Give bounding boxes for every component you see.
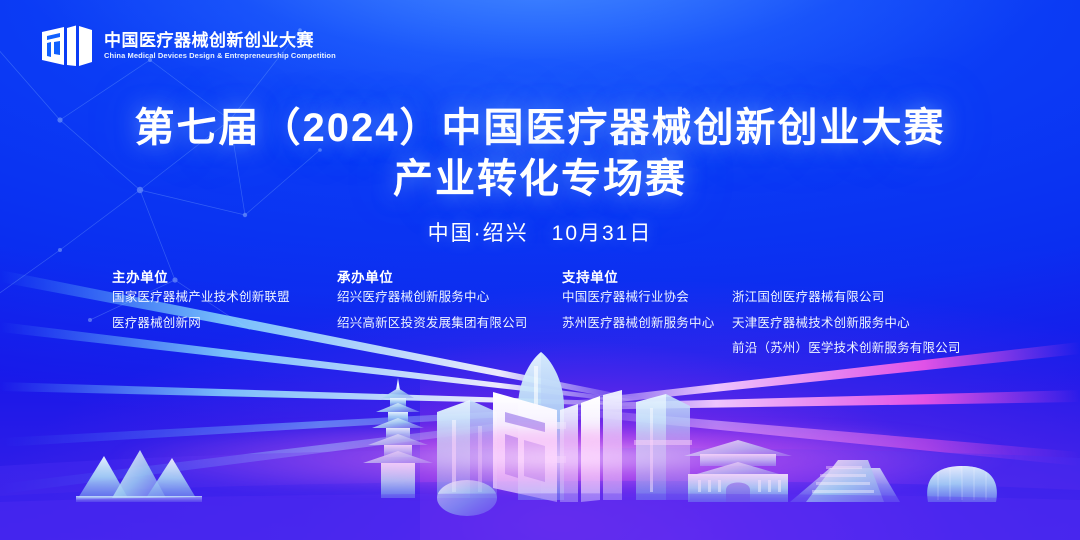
organizer-item: 国家医疗器械产业技术创新联盟 — [112, 291, 337, 304]
stadium-roof-building — [76, 450, 202, 502]
organizer-heading: 承办单位 — [337, 266, 562, 282]
hero-title-line-1: 第七届（2024）中国医疗器械创新创业大赛 — [0, 103, 1080, 154]
organizer-column-support-extra: 浙江国创医疗器械有限公司 天津医疗器械技术创新服务中心 前沿（苏州）医学技术创新… — [732, 266, 992, 368]
hero-title-line-2: 产业转化专场赛 — [0, 154, 1080, 205]
poster-canvas: 中国医疗器械创新创业大赛 China Medical Devices Desig… — [0, 0, 1080, 540]
logo-title-cn: 中国医疗器械创新创业大赛 — [104, 32, 336, 51]
organizers-block: 主办单位 国家医疗器械产业技术创新联盟 医疗器械创新网 承办单位 绍兴医疗器械创… — [112, 266, 992, 368]
logo-title-en: China Medical Devices Design & Entrepren… — [104, 52, 336, 60]
hero-title-block: 第七届（2024）中国医疗器械创新创业大赛 产业转化专场赛 — [0, 103, 1080, 205]
prism-skyscraper — [634, 394, 692, 500]
city-skyline-illustration — [0, 350, 1080, 540]
chinese-gate-tower — [684, 440, 792, 502]
organizer-item: 中国医疗器械行业协会 — [562, 291, 732, 304]
organizer-item: 绍兴医疗器械创新服务中心 — [337, 291, 562, 304]
organizer-item: 医疗器械创新网 — [112, 317, 337, 330]
organizer-heading: 主办单位 — [112, 266, 337, 282]
organizer-heading: 支持单位 — [562, 266, 732, 282]
organizer-item: 绍兴高新区投资发展集团有限公司 — [337, 317, 562, 330]
pagoda-tower — [363, 378, 433, 498]
open-book-logo-mark — [40, 24, 94, 68]
organizer-item: 苏州医疗器械创新服务中心 — [562, 317, 732, 330]
organizer-column-support: 支持单位 中国医疗器械行业协会 苏州医疗器械创新服务中心 — [562, 266, 732, 342]
organizer-item: 前沿（苏州）医学技术创新服务有限公司 — [732, 342, 992, 355]
organizer-item: 天津医疗器械技术创新服务中心 — [732, 317, 992, 330]
hero-subtitle-location-date: 中国·绍兴 10月31日 — [0, 217, 1080, 247]
organizer-column-host: 主办单位 国家医疗器械产业技术创新联盟 医疗器械创新网 — [112, 266, 337, 342]
brand-logo[interactable]: 中国医疗器械创新创业大赛 China Medical Devices Desig… — [40, 24, 336, 68]
organizer-item: 浙江国创医疗器械有限公司 — [732, 291, 992, 304]
organizer-column-organizer: 承办单位 绍兴医疗器械创新服务中心 绍兴高新区投资发展集团有限公司 — [337, 266, 562, 342]
